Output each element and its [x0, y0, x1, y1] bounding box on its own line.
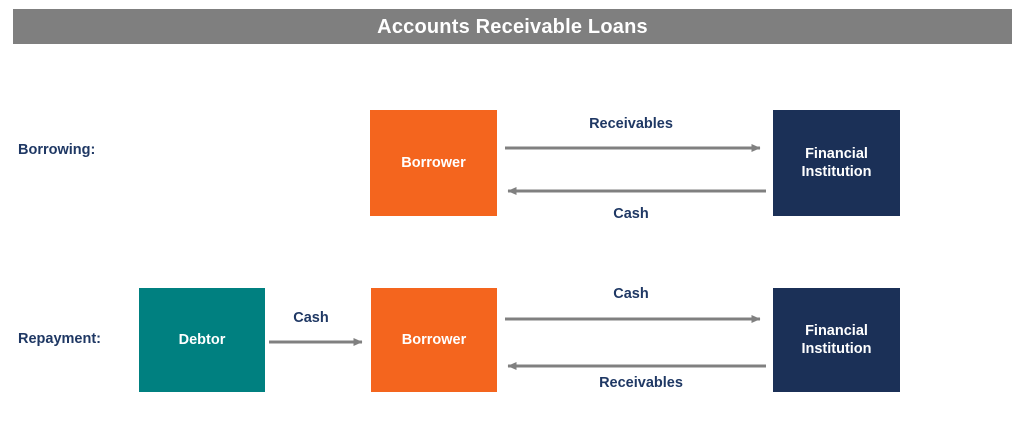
node-borrower-repayment[interactable]: Borrower	[371, 288, 497, 392]
flow-label-cash-debtor-to-borrower: Cash	[293, 310, 328, 326]
node-label-line1: Financial	[805, 323, 868, 339]
node-label-line2: Institution	[801, 164, 871, 180]
node-financial-institution-repayment[interactable]: Financial Institution	[773, 288, 900, 392]
diagram-title-banner: Accounts Receivable Loans	[13, 9, 1012, 44]
node-label: Financial Institution	[801, 322, 871, 358]
flow-label-cash-repayment: Cash	[613, 286, 648, 302]
flow-label-cash-borrowing: Cash	[613, 206, 648, 222]
node-label-line2: Institution	[801, 341, 871, 357]
node-label: Financial Institution	[801, 145, 871, 181]
node-borrower-borrowing[interactable]: Borrower	[370, 110, 497, 216]
node-label: Borrower	[402, 331, 466, 349]
node-label: Debtor	[179, 331, 226, 349]
page-title: Accounts Receivable Loans	[377, 17, 648, 37]
node-label: Borrower	[401, 154, 465, 172]
diagram-canvas: Accounts Receivable Loans Borrowing: Rep…	[0, 0, 1024, 424]
node-label-line1: Financial	[805, 146, 868, 162]
section-label-repayment: Repayment:	[18, 331, 101, 347]
flow-label-receivables-repayment: Receivables	[599, 375, 683, 391]
node-debtor-repayment[interactable]: Debtor	[139, 288, 265, 392]
section-label-borrowing: Borrowing:	[18, 142, 95, 158]
flow-label-receivables-borrowing: Receivables	[589, 116, 673, 132]
node-financial-institution-borrowing[interactable]: Financial Institution	[773, 110, 900, 216]
